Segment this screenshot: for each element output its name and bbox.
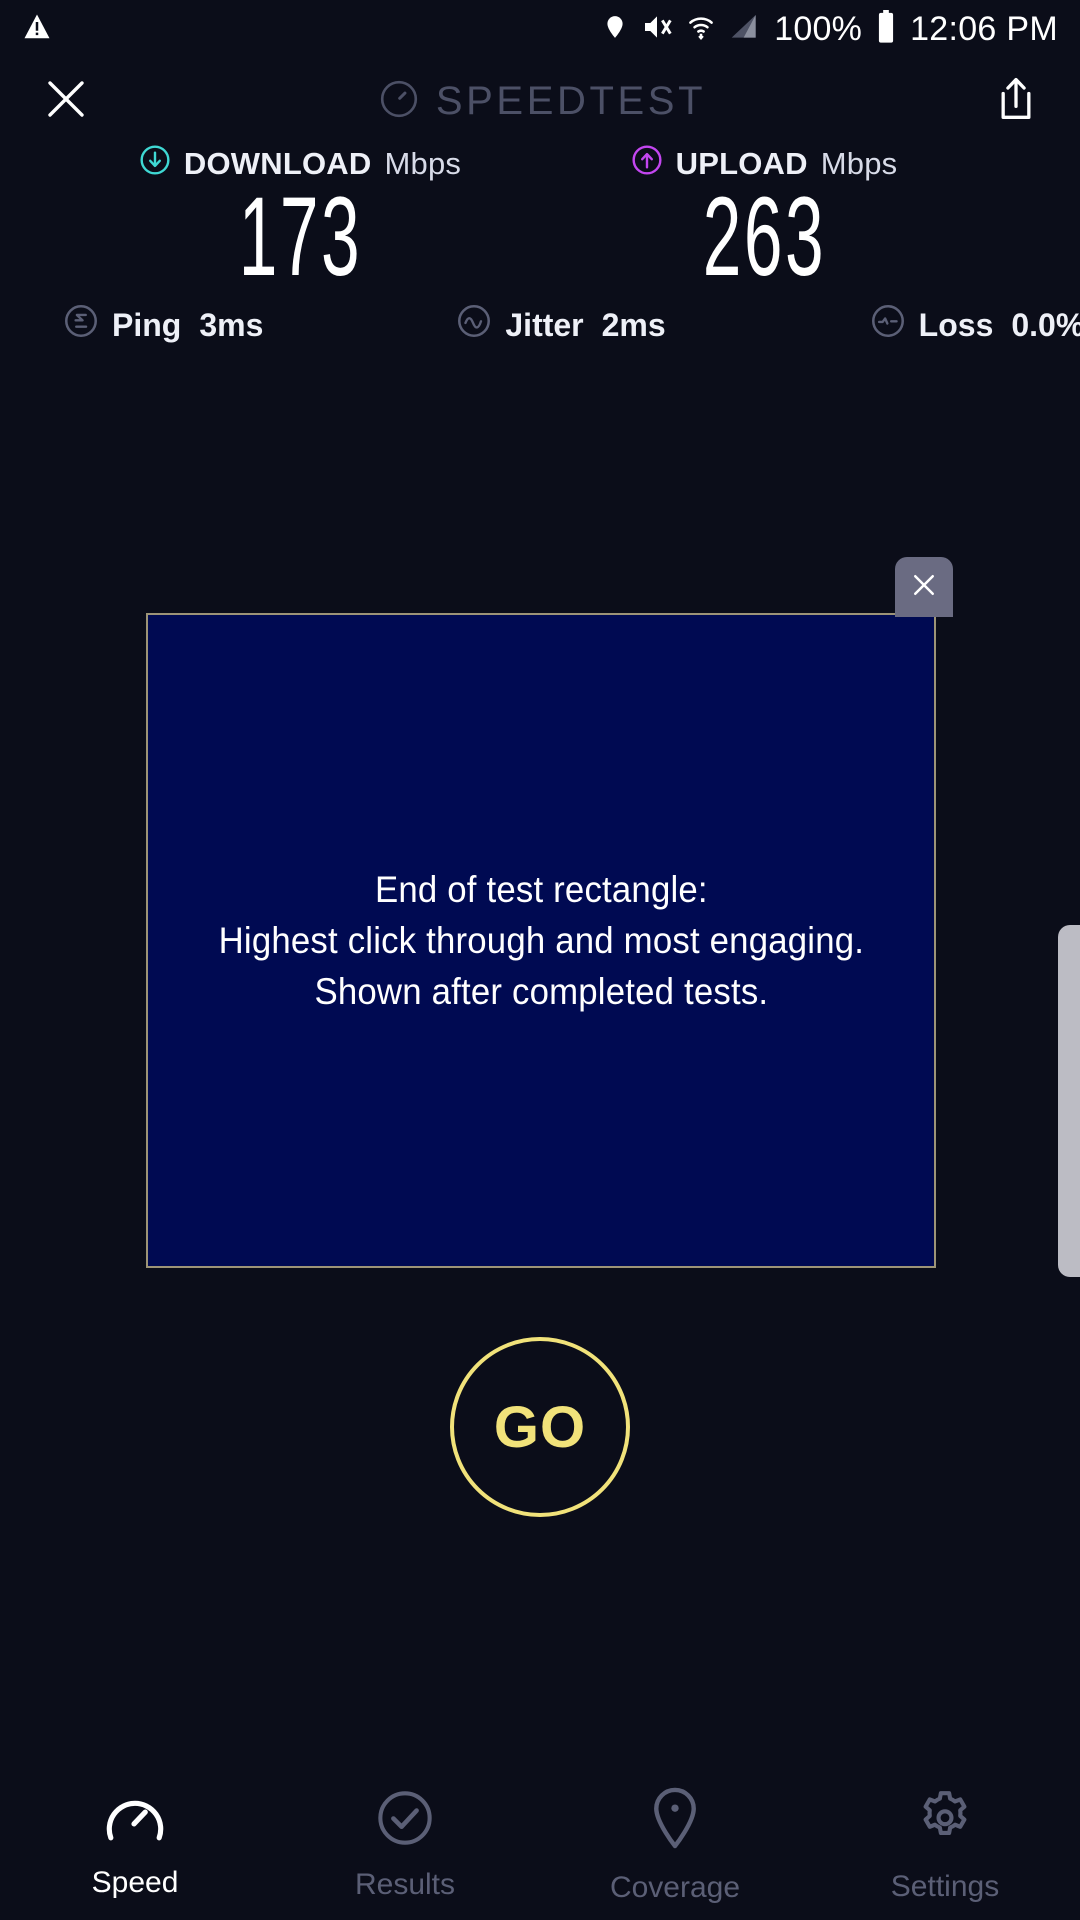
nav-label-speed: Speed [92, 1866, 179, 1900]
ping-icon [62, 302, 100, 348]
loss-icon [869, 302, 907, 348]
bottom-navigation-bar: Speed Results Coverage [0, 1770, 1080, 1920]
advertisement-container: End of test rectangle: Highest click thr… [146, 613, 936, 1268]
gear-icon [914, 1787, 976, 1854]
ping-stat: Ping 3ms [62, 302, 263, 348]
advertisement-line-3: Shown after completed tests. [218, 966, 864, 1017]
page-title: SPEEDTEST [436, 79, 706, 124]
map-pin-icon [647, 1786, 703, 1855]
wifi-icon [686, 11, 716, 48]
loss-stat: Loss 0.0% [869, 302, 1080, 348]
nav-label-results: Results [355, 1868, 455, 1902]
advertisement-text: End of test rectangle: Highest click thr… [218, 864, 864, 1017]
loss-value: 0.0% [1011, 307, 1080, 344]
nav-item-speed[interactable]: Speed [0, 1791, 270, 1900]
brand: SPEEDTEST [378, 78, 706, 125]
clock-label: 12:06 PM [910, 10, 1058, 49]
upload-unit: Mbps [821, 146, 898, 182]
jitter-label: Jitter [505, 307, 583, 344]
speedometer-icon [104, 1791, 166, 1850]
download-value: 173 [238, 180, 361, 294]
go-button-label: GO [494, 1394, 586, 1461]
jitter-value: 2ms [602, 307, 666, 344]
speedtest-app-screen: 100% 12:06 PM SPEEDTEST [0, 0, 1080, 1920]
nav-item-settings[interactable]: Settings [810, 1787, 1080, 1904]
ping-value: 3ms [199, 307, 263, 344]
volume-mute-icon [641, 11, 673, 48]
jitter-icon [455, 302, 493, 348]
advertisement-line-1: End of test rectangle: [218, 864, 864, 915]
download-metric: DOWNLOAD Mbps 173 [120, 144, 540, 294]
speedtest-gauge-icon [378, 78, 420, 125]
app-header: SPEEDTEST [0, 58, 1080, 144]
arrow-up-circle-icon [631, 144, 663, 184]
go-button[interactable]: GO [450, 1337, 630, 1517]
system-status-bar: 100% 12:06 PM [0, 0, 1080, 58]
arrow-down-circle-icon [139, 144, 171, 184]
upload-metric: UPLOAD Mbps 263 [540, 144, 960, 294]
close-icon[interactable] [42, 75, 90, 128]
cellular-signal-icon [729, 11, 761, 48]
status-bar-right: 100% 12:06 PM [602, 10, 1058, 49]
jitter-stat: Jitter 2ms [455, 302, 665, 348]
download-unit: Mbps [384, 146, 461, 182]
upload-value: 263 [702, 180, 825, 294]
battery-percent-label: 100% [774, 10, 862, 49]
battery-full-icon [875, 10, 897, 49]
warning-triangle-icon [22, 11, 52, 48]
close-icon [909, 570, 939, 605]
location-pin-icon [602, 11, 628, 48]
share-icon[interactable] [994, 75, 1038, 128]
nav-item-results[interactable]: Results [270, 1789, 540, 1902]
speed-results: DOWNLOAD Mbps 173 UPLOAD Mbps [0, 144, 1080, 294]
ad-close-button[interactable] [895, 557, 953, 617]
advertisement-banner[interactable]: End of test rectangle: Highest click thr… [146, 613, 936, 1268]
nav-label-settings: Settings [891, 1870, 999, 1904]
nav-label-coverage: Coverage [610, 1871, 740, 1905]
ping-label: Ping [112, 307, 181, 344]
metric-row: DOWNLOAD Mbps 173 UPLOAD Mbps [0, 144, 1080, 294]
scrollbar-handle[interactable] [1058, 925, 1080, 1277]
connection-stats-row: Ping 3ms Jitter 2ms Los [0, 296, 1080, 354]
status-bar-left [22, 11, 52, 48]
loss-label: Loss [919, 307, 994, 344]
advertisement-line-2: Highest click through and most engaging. [218, 915, 864, 966]
nav-item-coverage[interactable]: Coverage [540, 1786, 810, 1905]
check-circle-icon [376, 1789, 434, 1852]
